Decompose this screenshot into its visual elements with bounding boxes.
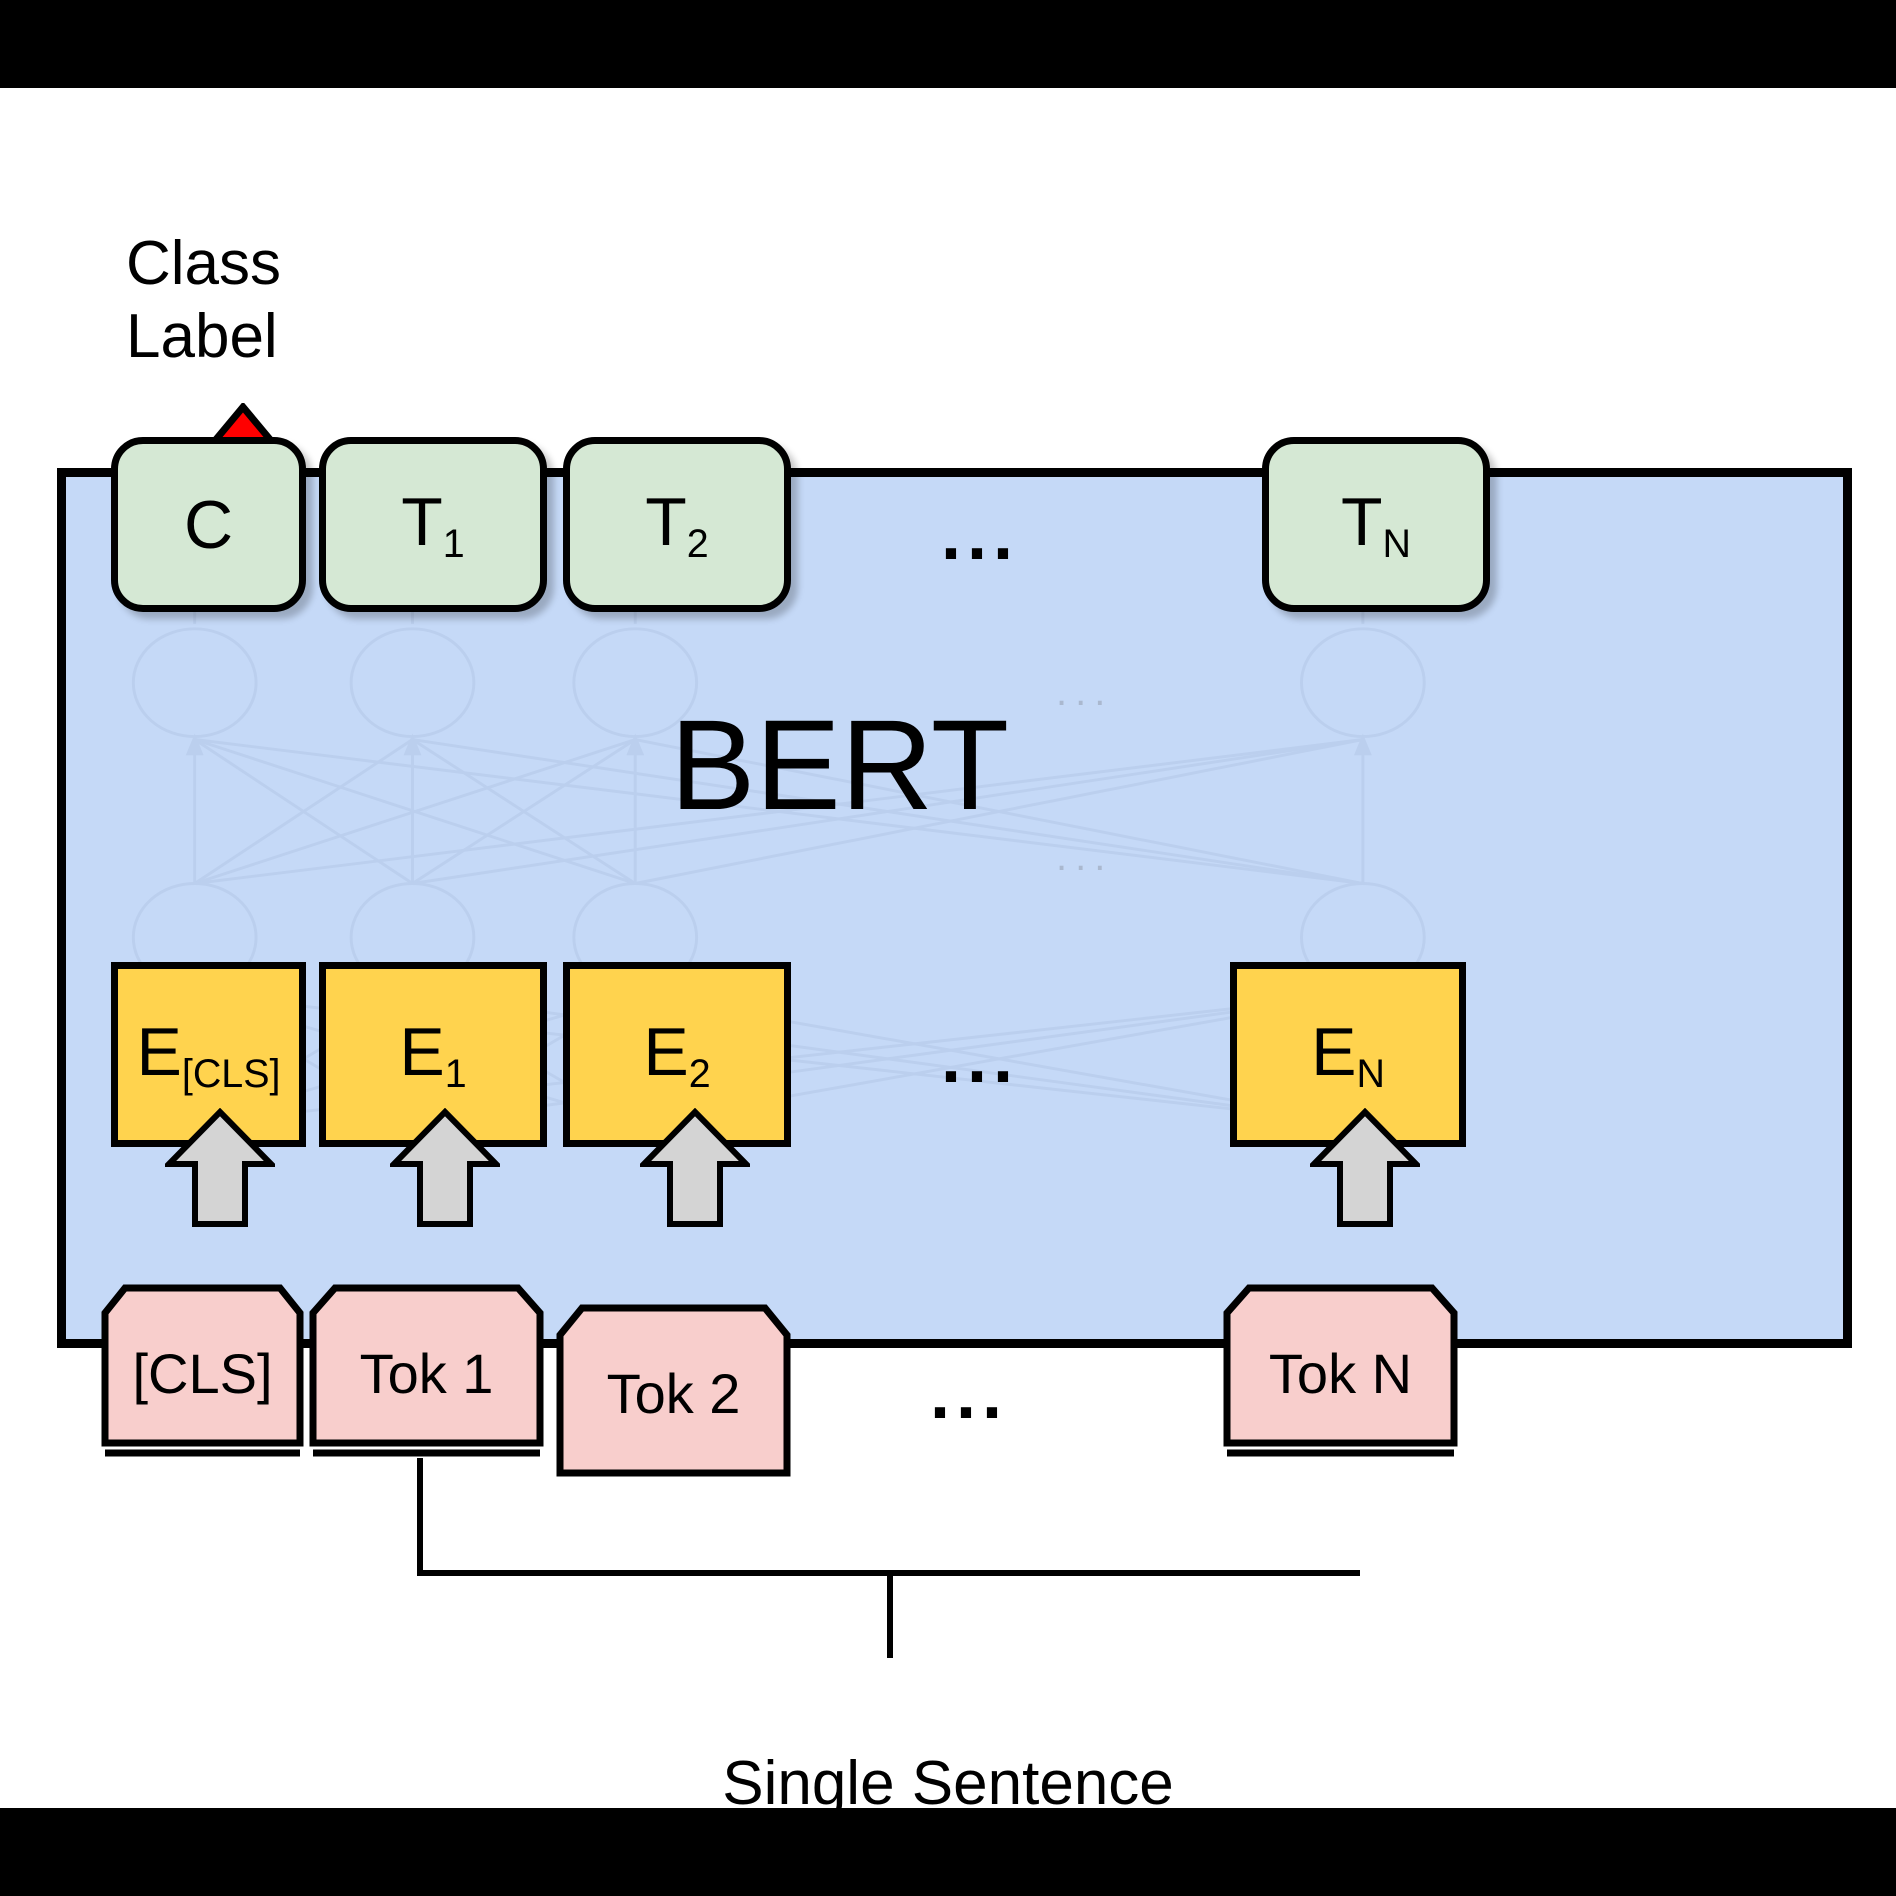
token-row-ellipsis: ... xyxy=(930,1358,1008,1430)
token-cell-cls-label: [CLS] xyxy=(100,1283,305,1463)
bert-model-block: ... ... BERT C T1 T2 TN ... E[CLS] xyxy=(57,468,1852,1348)
grey-up-arrow-icon-tok1 xyxy=(390,1108,500,1228)
class-label-text: Class Label xyxy=(126,228,546,373)
output-cell-tn-label: TN xyxy=(1341,483,1411,567)
class-label-line2: Label xyxy=(126,301,546,374)
input-grouping-bracket-icon xyxy=(400,1458,1400,1673)
output-cell-t1: T1 xyxy=(319,437,547,612)
token-cell-tok1: Tok 1 xyxy=(308,1283,545,1463)
grey-up-arrow-icon-tokn xyxy=(1310,1108,1420,1228)
token-cell-cls: [CLS] xyxy=(100,1283,305,1463)
embedding-cell-e1-label: E1 xyxy=(399,1013,466,1097)
grey-up-arrow-icon-tok2 xyxy=(640,1108,750,1228)
token-cell-tokn-label: Tok N xyxy=(1222,1283,1459,1463)
output-cell-t2-label: T2 xyxy=(645,483,708,567)
mesh-ellipsis-row2: ... xyxy=(1056,837,1113,877)
output-row-ellipsis: ... xyxy=(941,499,1019,571)
input-caption: Single Sentence xyxy=(0,1748,1896,1819)
token-cell-tok2: Tok 2 xyxy=(555,1303,792,1483)
class-label-line1: Class xyxy=(126,228,546,301)
output-cell-t1-label: T1 xyxy=(401,483,464,567)
grey-up-arrow-icon-cls xyxy=(165,1108,275,1228)
bert-wordmark: BERT xyxy=(0,702,1728,830)
embedding-cell-en-label: EN xyxy=(1311,1013,1385,1097)
embedding-cell-e2-label: E2 xyxy=(643,1013,710,1097)
diagram-stage: Class Label xyxy=(0,0,1896,1896)
output-cell-t2: T2 xyxy=(563,437,791,612)
token-cell-tokn: Tok N xyxy=(1222,1283,1459,1463)
token-cell-tok1-label: Tok 1 xyxy=(308,1283,545,1463)
output-cell-tn: TN xyxy=(1262,437,1490,612)
token-cell-tok2-label: Tok 2 xyxy=(555,1303,792,1483)
diagram-canvas: Class Label xyxy=(0,88,1896,1808)
embedding-cell-cls-label: E[CLS] xyxy=(137,1013,281,1097)
output-cell-c-label: C xyxy=(184,486,233,564)
embedding-row-ellipsis: ... xyxy=(941,1022,1019,1094)
output-cell-c: C xyxy=(111,437,306,612)
